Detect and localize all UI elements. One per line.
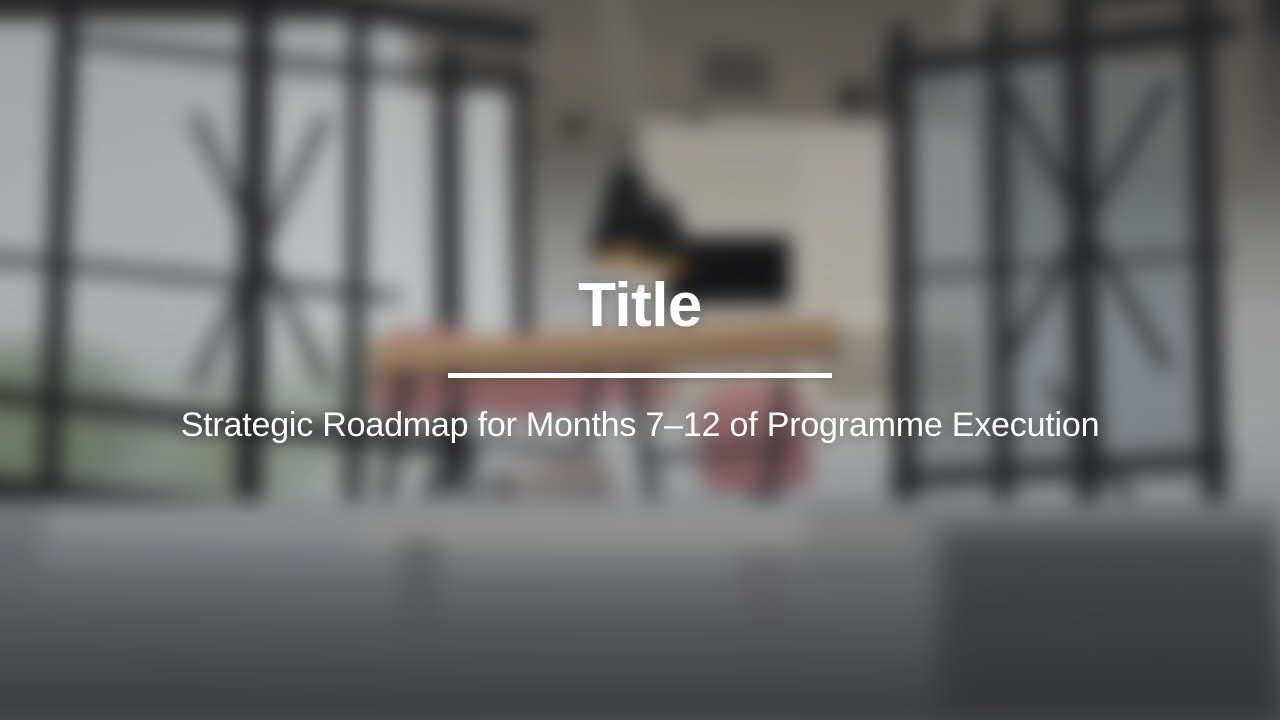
title-divider-rule [448, 373, 832, 378]
title-slide: Title Strategic Roadmap for Months 7–12 … [0, 0, 1280, 720]
slide-subtitle: Strategic Roadmap for Months 7–12 of Pro… [181, 406, 1100, 445]
slide-title: Title [578, 275, 702, 337]
slide-content: Title Strategic Roadmap for Months 7–12 … [0, 0, 1280, 720]
